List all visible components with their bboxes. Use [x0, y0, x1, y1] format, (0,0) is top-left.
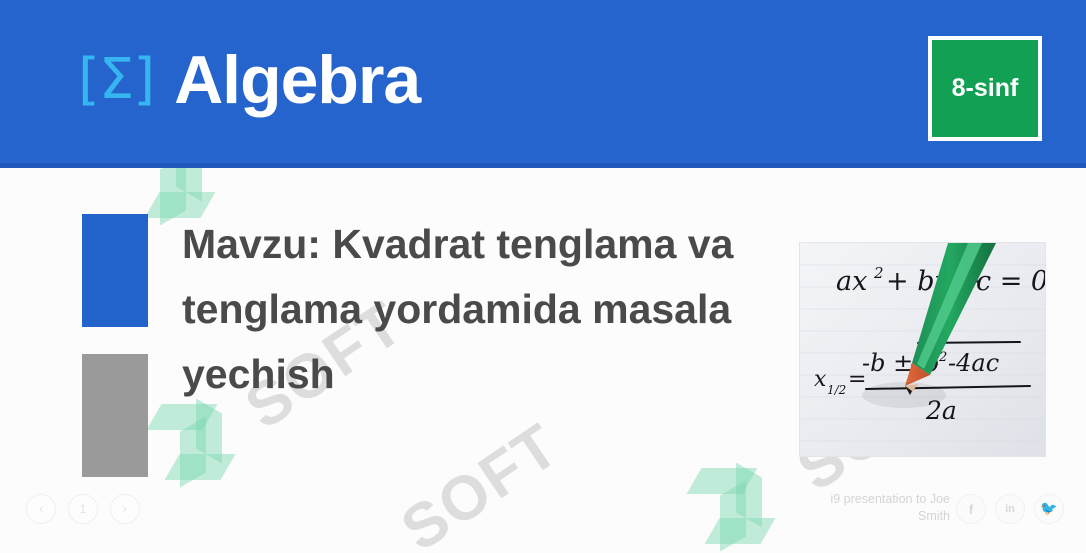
twitter-icon[interactable]: 🐦	[1034, 494, 1064, 524]
brand: [Σ] Algebra	[78, 46, 420, 114]
linkedin-icon[interactable]: in	[995, 494, 1025, 524]
svg-text:-4ac: -4ac	[948, 349, 999, 377]
page-number[interactable]: 1	[68, 494, 98, 524]
credit-line-2: Smith	[790, 508, 950, 525]
slide-footer: ‹ 1 › i9 presentation to Joe Smith f in …	[0, 485, 1086, 553]
grade-badge-label: 8-sinf	[952, 74, 1019, 103]
svg-text:c = 0: c = 0	[976, 266, 1045, 297]
topic-heading: Mavzu: Kvadrat tenglama va tenglama yord…	[182, 212, 782, 406]
credit-text: i9 presentation to Joe Smith	[790, 491, 950, 525]
next-page-button[interactable]: ›	[110, 494, 140, 524]
svg-text:-b ±: -b ±	[862, 349, 913, 377]
svg-text:2: 2	[873, 264, 884, 282]
social-links: f in 🐦	[956, 494, 1064, 524]
svg-text:ax: ax	[836, 266, 867, 297]
bullet-block-gray	[82, 354, 148, 477]
facebook-icon[interactable]: f	[956, 494, 986, 524]
bullet-block-blue	[82, 214, 148, 327]
page-title: Algebra	[174, 46, 420, 114]
sigma-bracket-icon: [Σ]	[78, 52, 154, 108]
svg-text:x: x	[814, 367, 827, 392]
bullet-markers	[82, 214, 148, 477]
slide-canvas: SOFT SOFT SOFT SOFT SOFT [Σ] Algebra 8-s…	[0, 0, 1086, 553]
slide-header: [Σ] Algebra 8-sinf	[0, 0, 1086, 168]
quadratic-formula-image: ax 2 + bx + c = 0 x 1/2 = -b ± b 2 -4ac …	[800, 243, 1045, 456]
svg-text:1/2: 1/2	[827, 383, 846, 397]
prev-page-button[interactable]: ‹	[26, 494, 56, 524]
pagination: ‹ 1 ›	[26, 494, 140, 524]
grade-badge: 8-sinf	[928, 36, 1042, 141]
credit-line-1: i9 presentation to Joe	[790, 491, 950, 508]
